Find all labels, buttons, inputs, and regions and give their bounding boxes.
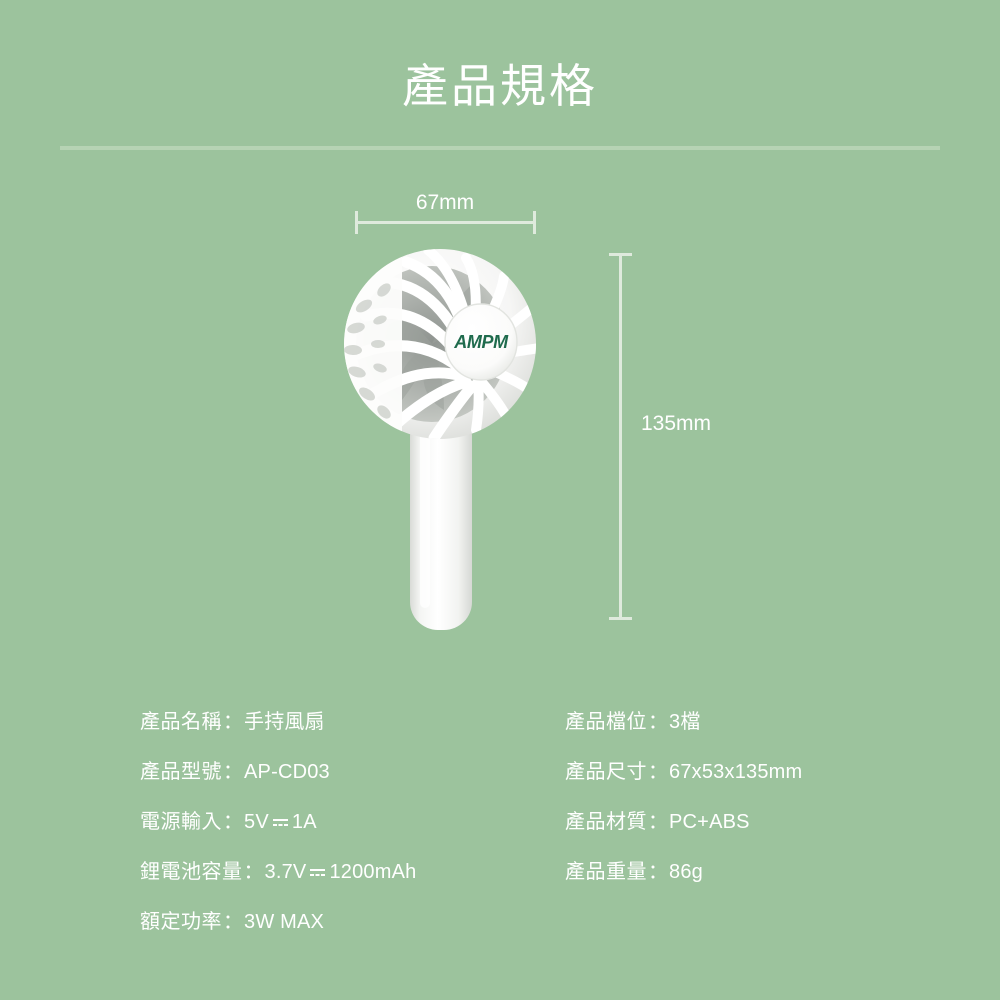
fan-handle <box>410 408 472 630</box>
spec-label: 產品尺寸 <box>565 747 647 797</box>
spec-row: 額定功率：3W MAX <box>140 897 416 947</box>
spec-row: 產品材質：PC+ABS <box>565 797 802 847</box>
spec-separator: ： <box>647 847 669 897</box>
height-dimension-label: 135mm <box>641 411 711 437</box>
spec-label: 額定功率 <box>140 897 222 947</box>
width-dimension-line <box>355 221 536 224</box>
spec-label: 電源輸入 <box>140 797 222 847</box>
spec-row: 產品型號：AP-CD03 <box>140 747 416 797</box>
height-dimension-cap-bottom <box>609 617 632 620</box>
spec-label: 產品重量 <box>565 847 647 897</box>
spec-value: 3檔 <box>669 697 701 747</box>
spec-separator: ： <box>647 747 669 797</box>
page-title: 產品規格 <box>0 58 1000 114</box>
spec-value: 86g <box>669 847 703 897</box>
spec-label: 產品名稱 <box>140 697 222 747</box>
spec-row: 鋰電池容量：3.7V1200mAh <box>140 847 416 897</box>
dc-current-icon <box>310 866 325 878</box>
width-dimension-label: 67mm <box>355 190 535 216</box>
spec-row: 產品尺寸：67x53x135mm <box>565 747 802 797</box>
spec-label: 鋰電池容量 <box>140 847 243 897</box>
width-dimension-cap-right <box>533 211 536 234</box>
spec-separator: ： <box>647 797 669 847</box>
product-spec-page: 產品規格 67mm 135mm <box>0 0 1000 1000</box>
fan-hub: AMPM <box>445 304 517 380</box>
width-dimension-cap-left <box>355 211 358 234</box>
fan-head: AMPM <box>344 246 540 442</box>
product-image-handheld-fan: AMPM <box>340 240 560 630</box>
spec-label: 產品型號 <box>140 747 222 797</box>
spec-separator: ： <box>222 897 244 947</box>
fan-intake-texture <box>344 246 402 442</box>
spec-value-suffix: 1A <box>292 797 317 847</box>
spec-list-left: 產品名稱：手持風扇產品型號：AP-CD03電源輸入：5V1A鋰電池容量：3.7V… <box>140 697 416 947</box>
brand-logo-text: AMPM <box>453 332 509 352</box>
spec-separator: ： <box>222 697 244 747</box>
spec-value: AP-CD03 <box>244 747 330 797</box>
spec-list-right: 產品檔位：3檔產品尺寸：67x53x135mm產品材質：PC+ABS產品重量：8… <box>565 697 802 897</box>
spec-value: PC+ABS <box>669 797 750 847</box>
spec-row: 產品檔位：3檔 <box>565 697 802 747</box>
spec-value: 3W MAX <box>244 897 324 947</box>
dc-current-icon <box>273 816 288 828</box>
spec-separator: ： <box>222 747 244 797</box>
spec-label: 產品檔位 <box>565 697 647 747</box>
spec-value-suffix: 1200mAh <box>329 847 416 897</box>
spec-separator: ： <box>647 697 669 747</box>
title-divider <box>60 146 940 150</box>
spec-row: 產品名稱：手持風扇 <box>140 697 416 747</box>
height-dimension-cap-top <box>609 253 632 256</box>
spec-value: 手持風扇 <box>244 697 325 747</box>
spec-separator: ： <box>243 847 265 897</box>
spec-row: 電源輸入：5V1A <box>140 797 416 847</box>
spec-row: 產品重量：86g <box>565 847 802 897</box>
handheld-fan-illustration: AMPM <box>340 240 560 630</box>
spec-value-prefix: 3.7V <box>265 847 307 897</box>
spec-value: 67x53x135mm <box>669 747 802 797</box>
spec-separator: ： <box>222 797 244 847</box>
spec-value-prefix: 5V <box>244 797 269 847</box>
height-dimension-line <box>619 253 622 620</box>
spec-label: 產品材質 <box>565 797 647 847</box>
